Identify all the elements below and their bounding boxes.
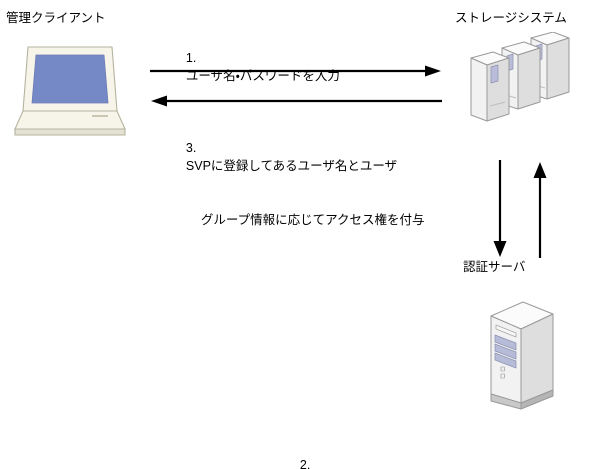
arrow-up-icon — [524, 160, 556, 258]
storage-cabinet-1 — [471, 52, 509, 121]
storage-system-title: ストレージシステム — [455, 9, 567, 27]
laptop-icon — [14, 45, 126, 137]
server-tower-icon — [483, 298, 565, 412]
arrow-down-icon — [484, 160, 516, 258]
step-3-text-line1: SVPに登録してあるユーザ名とユーザ — [186, 159, 397, 173]
step-3-caption: 3. SVPに登録してあるユーザ名とユーザ グループ情報に応じてアクセス権を付与 — [172, 121, 425, 247]
step-2-caption: 2. 認証サーバがユーザ名とパスワードをチェック — [286, 438, 562, 469]
authentication-flow-diagram: 管理クライアント ストレージシステム 認証サーバ 1. ユーザ名・パスワードを入… — [0, 0, 600, 469]
storage-array-icon — [457, 32, 575, 128]
arrow-right-icon — [150, 58, 442, 84]
step-3-number: 3. — [186, 139, 196, 157]
arrow-left-icon — [150, 88, 442, 114]
client-title: 管理クライアント — [6, 9, 106, 27]
step-2-number: 2. — [300, 456, 310, 469]
step-3-text-line2: グループ情報に応じてアクセス権を付与 — [201, 213, 425, 227]
auth-server-title: 認証サーバ — [463, 258, 525, 276]
